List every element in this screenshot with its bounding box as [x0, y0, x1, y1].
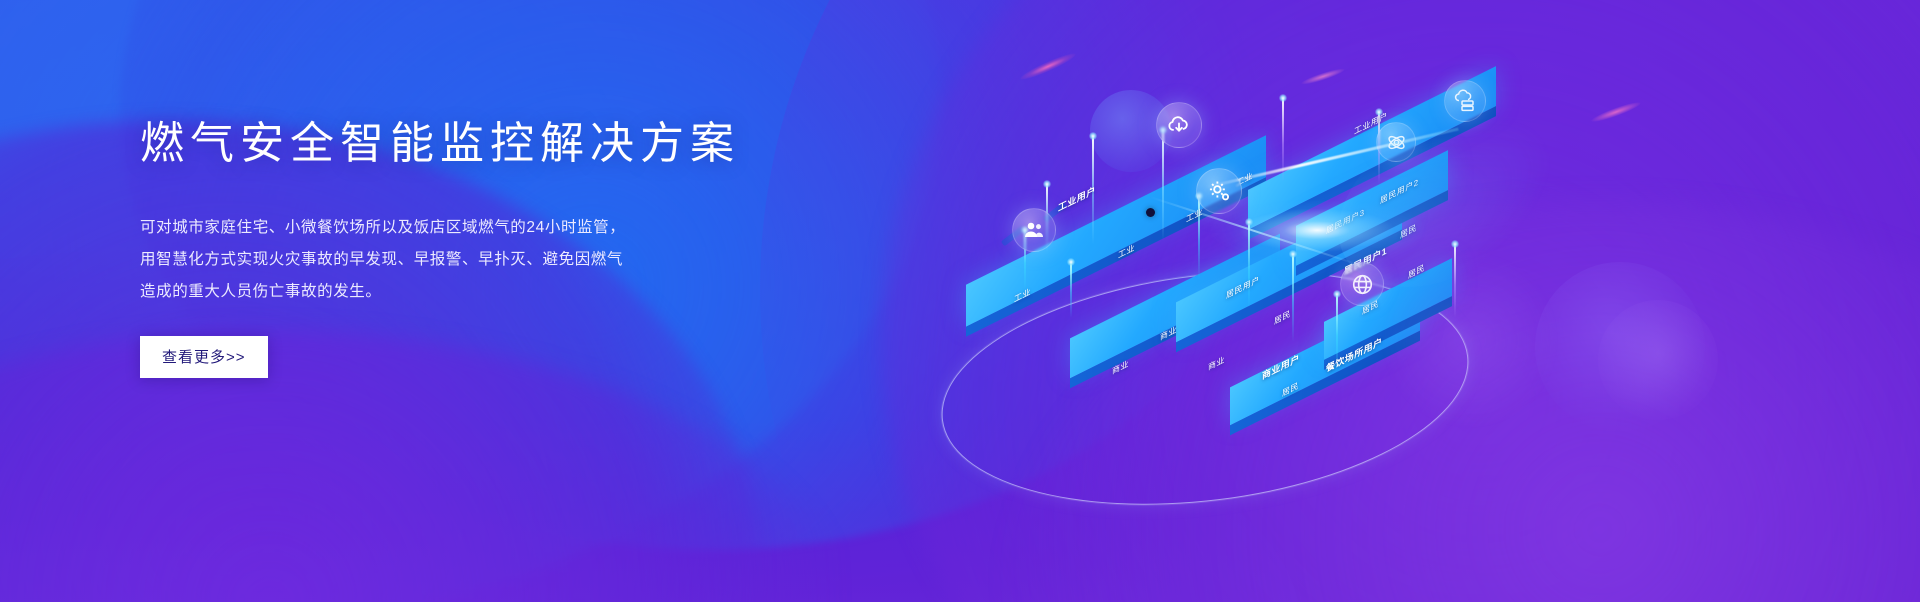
globe-icon	[1340, 262, 1384, 306]
hero-banner: 燃气安全智能监控解决方案 可对城市家庭住宅、小微餐饮场所以及饭店区域燃气的24小…	[0, 0, 1920, 602]
description-line-2: 用智慧化方式实现火灾事故的早发现、早报警、早扑灭、避免因燃气	[140, 244, 760, 276]
page-title: 燃气安全智能监控解决方案	[140, 118, 760, 170]
hero-copy: 燃气安全智能监控解决方案 可对城市家庭住宅、小微餐饮场所以及饭店区域燃气的24小…	[140, 118, 760, 378]
light-beam-7	[1248, 222, 1250, 308]
light-beam-4	[1070, 262, 1072, 318]
gear-icon	[1196, 168, 1242, 214]
view-more-button[interactable]: 查看更多>>	[140, 336, 268, 378]
users-icon	[1012, 208, 1056, 252]
cloud-server-icon	[1444, 80, 1486, 122]
light-beam-5	[1162, 130, 1164, 240]
cloud-download-icon	[1156, 102, 1202, 148]
slab-residential-platform-2	[1296, 188, 1448, 228]
light-beam-12	[1454, 244, 1456, 318]
platform-marker-dot	[1146, 208, 1155, 217]
isometric-illustration: 工业用户 工业 工业 工业 工业 工业用户 商业用户 商业 商业 商业 居民用户…	[930, 40, 1490, 440]
description-line-1: 可对城市家庭住宅、小微餐饮场所以及饭店区域燃气的24小时监管，	[140, 212, 760, 244]
slab-label-commercial-2: 商业	[1208, 354, 1225, 373]
hero-description: 可对城市家庭住宅、小微餐饮场所以及饭店区域燃气的24小时监管， 用智慧化方式实现…	[140, 212, 760, 308]
description-line-3: 造成的重大人员伤亡事故的发生。	[140, 276, 760, 308]
light-beam-8	[1292, 254, 1294, 342]
decorative-ring-inner	[1598, 300, 1718, 420]
